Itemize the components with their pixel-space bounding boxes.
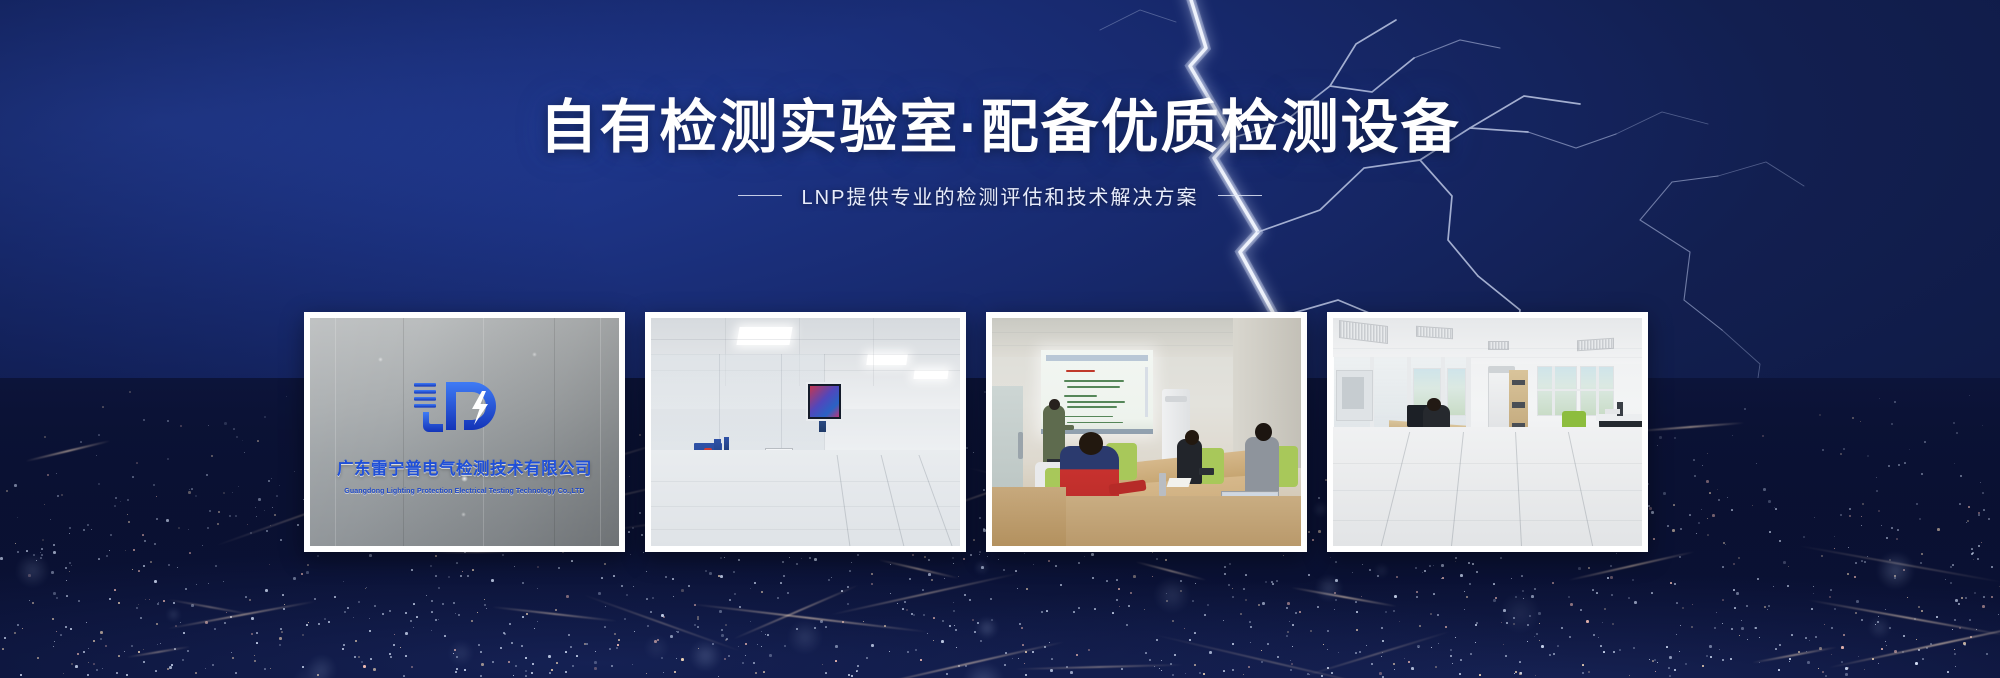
subtitle-row: LNP提供专业的检测评估和技术解决方案 (0, 181, 2000, 210)
gallery-card-training-meeting-room[interactable] (986, 312, 1307, 552)
lnp-logo-mark (406, 377, 524, 439)
company-name-cn: 广东雷宁普电气检测技术有限公司 (337, 455, 592, 479)
headline-block: 自有检测实验室·配备优质检测设备 LNP提供专业的检测评估和技术解决方案 (0, 96, 2000, 210)
photo-gallery: 广东雷宁普电气检测技术有限公司 Guangdong Lighting Prote… (304, 312, 1648, 552)
page-title: 自有检测实验室·配备优质检测设备 (0, 96, 2000, 161)
company-signage-photo: 广东雷宁普电气检测技术有限公司 Guangdong Lighting Prote… (310, 318, 619, 546)
training-meeting-room-photo (992, 318, 1301, 546)
gallery-card-open-office[interactable] (1327, 312, 1648, 552)
gallery-card-testing-laboratory[interactable] (645, 312, 966, 552)
hero-banner: 自有检测实验室·配备优质检测设备 LNP提供专业的检测评估和技术解决方案 (0, 0, 2000, 678)
company-name-en: Guangdong Lighting Protection Electrical… (344, 488, 584, 495)
open-office-photo (1333, 318, 1642, 546)
left-rule-icon (738, 195, 782, 196)
gallery-card-company-signage[interactable]: 广东雷宁普电气检测技术有限公司 Guangdong Lighting Prote… (304, 312, 625, 552)
right-rule-icon (1218, 195, 1262, 196)
testing-laboratory-photo (651, 318, 960, 546)
page-subtitle: LNP提供专业的检测评估和技术解决方案 (802, 181, 1199, 210)
